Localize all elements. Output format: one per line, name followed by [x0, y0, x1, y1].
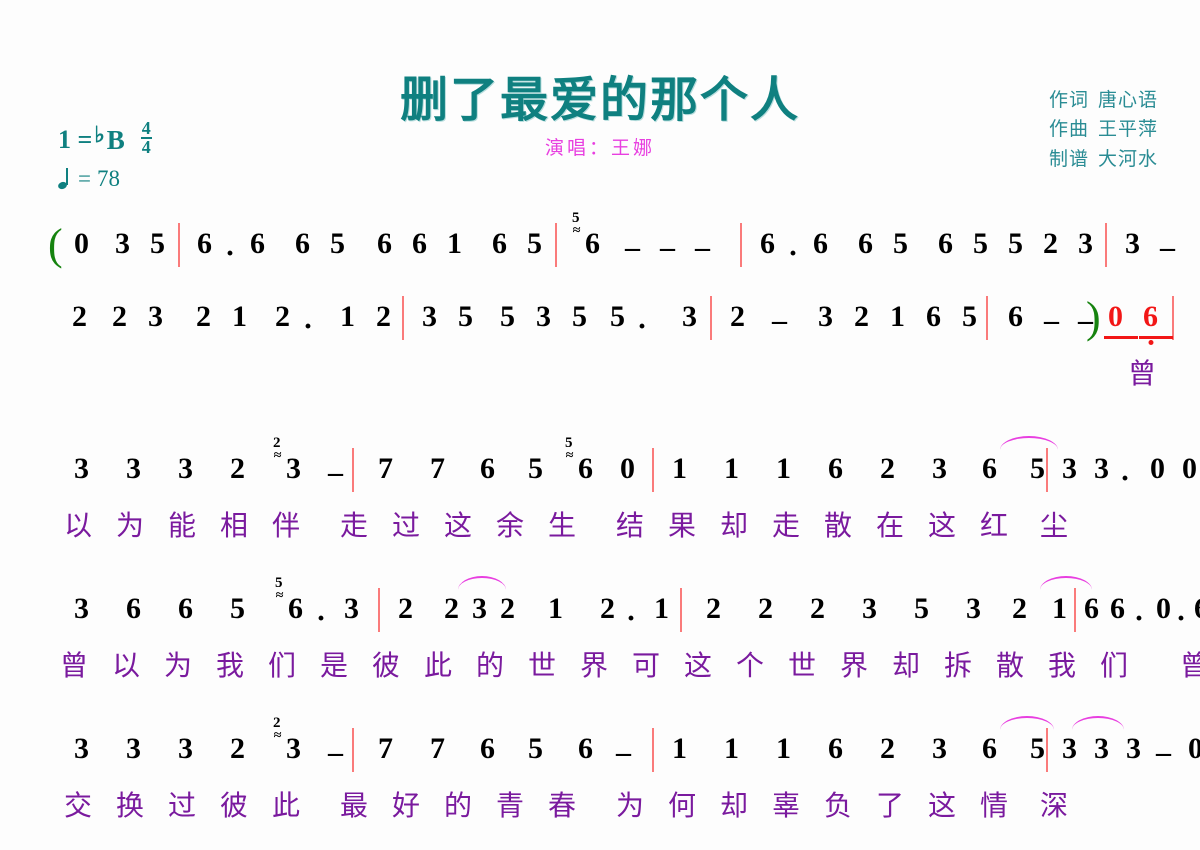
note: 3	[1126, 734, 1141, 764]
note: 6	[178, 594, 193, 624]
note-digit: 3	[422, 302, 437, 332]
lyric-syllable: 换	[116, 784, 145, 824]
note-digit: 0	[74, 229, 89, 259]
note: 65≈	[288, 594, 303, 624]
note-digit: 5	[230, 594, 245, 624]
note: 5	[528, 734, 543, 764]
note-digit: 2	[112, 302, 127, 332]
note: 6	[480, 734, 495, 764]
beam-line	[1008, 628, 1042, 631]
note-digit: 2	[730, 302, 745, 332]
note-digit: 5	[914, 594, 929, 624]
beam-line	[468, 634, 502, 637]
note: 5	[150, 229, 165, 259]
lyric-syllable: 可	[632, 644, 661, 684]
note-digit: 5	[893, 229, 908, 259]
slur-arc	[1072, 716, 1124, 730]
beam-line	[824, 488, 858, 491]
augmentation-dot: ·	[316, 602, 326, 636]
note-line: (0356·6656616565≈–––6·665655233–	[0, 215, 1200, 277]
beam-line	[754, 628, 788, 631]
note: 5	[610, 302, 625, 332]
lyric-syllable: 最	[340, 784, 369, 824]
note: 2	[854, 302, 869, 332]
lyric-syllable: 这	[684, 644, 713, 684]
credit-name: 王平萍	[1098, 119, 1158, 140]
note: 1	[672, 454, 687, 484]
note: 3	[536, 302, 551, 332]
note-digit: 65≈	[585, 229, 600, 259]
note: 5	[528, 454, 543, 484]
note-digit: 2	[810, 594, 825, 624]
note: 2	[1012, 594, 1027, 624]
beam-line	[108, 342, 142, 345]
note-digit: 6	[813, 229, 828, 259]
note-digit: 1	[776, 734, 791, 764]
credit-line: 制谱大河水	[1049, 145, 1158, 174]
beam-line	[476, 768, 510, 771]
grace-note-slash: ≈	[276, 588, 284, 601]
octave-dot-low	[485, 492, 490, 497]
note: 1	[672, 734, 687, 764]
note-digit: 0	[1182, 454, 1197, 484]
lyric-syllable: 界	[840, 644, 869, 684]
note: 2	[600, 594, 615, 624]
note: 6	[1008, 302, 1023, 332]
note-digit: 2	[880, 734, 895, 764]
performer-subtitle: 演唱：王娜	[0, 133, 1200, 160]
open-paren: (	[48, 219, 63, 270]
beam-line	[858, 628, 892, 631]
lyric-syllable: 拆	[944, 644, 973, 684]
lyric-syllable: 个	[736, 644, 765, 684]
beam-line	[922, 336, 956, 339]
key-letter: B	[107, 125, 125, 156]
credit-name: 唐心语	[1098, 90, 1158, 111]
note-digit: 1	[776, 454, 791, 484]
lyric-syllable: 彼	[220, 784, 249, 824]
note-digit: 3	[966, 594, 981, 624]
octave-dot-high	[201, 291, 206, 296]
note-digit: 2	[758, 594, 773, 624]
note-digit: 3	[74, 734, 89, 764]
beam-line	[408, 263, 442, 266]
note-digit: 3	[1094, 734, 1109, 764]
note: 3	[682, 302, 697, 332]
note-digit: 3	[148, 302, 163, 332]
page-title: 删了最爱的那个人	[0, 60, 1200, 130]
augmentation-dot: ·	[1176, 602, 1186, 636]
note-digit: 3	[126, 734, 141, 764]
lyric-syllable: 生	[548, 504, 577, 544]
barline	[352, 448, 354, 492]
beam-line	[922, 342, 956, 345]
beam-line	[962, 628, 996, 631]
beam-line	[886, 342, 920, 345]
note: 7	[378, 734, 393, 764]
note: 0	[1156, 594, 1171, 624]
lyric-syllable: 们	[268, 644, 297, 684]
octave-dot-high	[77, 291, 82, 296]
note-digit: 6	[828, 454, 843, 484]
beam-line	[122, 768, 156, 771]
beam-line	[496, 342, 530, 345]
beam-line	[720, 488, 754, 491]
note-digit: 5	[528, 454, 543, 484]
beam-line	[523, 263, 557, 266]
beam-line	[928, 488, 962, 491]
beam-line	[806, 628, 840, 631]
note-digit: 6	[1110, 594, 1125, 624]
beam-line	[174, 488, 208, 491]
duration-dash: –	[625, 231, 640, 265]
beam-line	[70, 768, 104, 771]
beam-line	[928, 768, 962, 771]
note: 3	[115, 229, 130, 259]
note: 1	[1052, 594, 1067, 624]
lyric-syllable: 为	[164, 644, 193, 684]
note-digit: 2	[1012, 594, 1027, 624]
note: 2	[398, 594, 413, 624]
time-signature: 4 4	[141, 120, 152, 156]
close-paren: )	[1086, 292, 1101, 343]
beam-line	[1190, 628, 1200, 631]
beam-line	[426, 768, 460, 771]
augmentation-dot: ·	[225, 237, 235, 271]
augmentation-dot: ·	[1134, 602, 1144, 636]
slur-arc	[1040, 576, 1092, 590]
duration-dash: –	[1044, 304, 1059, 338]
lyric-syllable: 的	[476, 644, 505, 684]
beam-line	[1026, 488, 1060, 491]
beam-line	[291, 263, 325, 266]
time-signature-denominator: 4	[142, 139, 151, 156]
beam-line	[702, 628, 736, 631]
lyric-line: 曾	[0, 350, 1200, 398]
grace-note-slash: ≈	[566, 448, 574, 461]
lyric-syllable: 春	[548, 784, 577, 824]
lyric-syllable: 交	[64, 784, 93, 824]
beam-line	[1139, 336, 1173, 339]
note-digit: 3	[536, 302, 551, 332]
flat-symbol: ♭	[94, 122, 104, 148]
note-digit: 7	[378, 734, 393, 764]
note-digit: 6	[492, 229, 507, 259]
note-digit: 3	[932, 454, 947, 484]
note-digit: 1	[724, 734, 739, 764]
barline	[378, 588, 380, 632]
staff-row: 223212·12355355·32–321656––)06曾	[0, 288, 1200, 398]
note: 3	[74, 454, 89, 484]
note-digit: 2	[230, 454, 245, 484]
beam-line	[488, 263, 522, 266]
octave-dot-low	[383, 492, 388, 497]
note-digit: 3	[1062, 734, 1077, 764]
note: 5	[893, 229, 908, 259]
staff-row: 333232≈–77656–11162365333–0交换过彼此最好的青春为何却…	[0, 720, 1200, 830]
beam-line	[886, 336, 920, 339]
note-digit: 0	[1156, 594, 1171, 624]
beam-line	[144, 342, 178, 345]
note: 0	[74, 229, 89, 259]
note: 6	[926, 302, 941, 332]
tempo-value: 78	[97, 166, 120, 192]
octave-dot-low	[833, 772, 838, 777]
note-digit: 7	[378, 454, 393, 484]
lyric-syllable: 我	[216, 644, 245, 684]
lyric-syllable: 好	[392, 784, 421, 824]
augmentation-dot: ·	[626, 602, 636, 636]
beam-line	[1048, 628, 1082, 631]
barline	[352, 728, 354, 772]
note: 1	[654, 594, 669, 624]
note-digit: 6	[1008, 302, 1023, 332]
note: 5	[1030, 454, 1045, 484]
note-digit: 3	[1094, 454, 1109, 484]
beam-line	[1074, 269, 1108, 272]
note: 0	[1150, 454, 1165, 484]
beam-line	[326, 263, 360, 266]
beam-line	[524, 488, 558, 491]
octave-dot-low	[833, 492, 838, 497]
duration-dash: –	[1156, 736, 1171, 770]
note-digit: 7	[430, 454, 445, 484]
note-digit: 2	[376, 302, 391, 332]
lyric-syllable: 世	[528, 644, 557, 684]
note-digit: 32≈	[286, 734, 301, 764]
note: 6	[982, 454, 997, 484]
note-digit: 65≈	[288, 594, 303, 624]
beam-line	[418, 336, 452, 339]
note-digit: 6	[178, 594, 193, 624]
note: 1	[724, 454, 739, 484]
note-digit: 1	[724, 454, 739, 484]
lyric-syllable: 何	[668, 784, 697, 824]
duration-dash: –	[328, 736, 343, 770]
lyric-syllable: 过	[168, 784, 197, 824]
slur-arc	[1000, 716, 1054, 730]
octave-dot-high	[895, 291, 900, 296]
note: 5	[527, 229, 542, 259]
beam-line	[122, 628, 156, 631]
octave-dot-high	[505, 291, 510, 296]
beam-line	[394, 628, 428, 631]
beam-line	[1074, 263, 1108, 266]
lyric-syllable: 彼	[372, 644, 401, 684]
lyric-syllable: 青	[496, 784, 525, 824]
note: 6	[492, 229, 507, 259]
note: 3	[818, 302, 833, 332]
note: 3	[148, 302, 163, 332]
octave-dot-high	[463, 291, 468, 296]
note-digit: 5	[458, 302, 473, 332]
note-digit: 5	[150, 229, 165, 259]
note-digit: 2	[600, 594, 615, 624]
augmentation-dot: ·	[788, 237, 798, 271]
note-digit: 32≈	[286, 454, 301, 484]
note: 32≈	[286, 454, 301, 484]
beam-line	[854, 263, 888, 266]
note-digit: 1	[672, 734, 687, 764]
octave-dot-high	[615, 291, 620, 296]
note-line: 333232≈–776565≈01116236533·00	[0, 440, 1200, 502]
note: 2	[230, 454, 245, 484]
note: 3	[126, 454, 141, 484]
note-digit: 2	[196, 302, 211, 332]
beam-line	[978, 768, 1012, 771]
note-digit: 2	[500, 594, 515, 624]
note: 2	[730, 302, 745, 332]
credit-line: 作曲王平萍	[1049, 115, 1158, 144]
note: 5	[500, 302, 515, 332]
lyric-line: 交换过彼此最好的青春为何却辜负了这情深	[0, 782, 1200, 830]
lyric-syllable: 深	[1040, 784, 1069, 824]
note: 3	[1094, 734, 1109, 764]
note-digit: 3	[178, 454, 193, 484]
beam-line	[978, 488, 1012, 491]
note-digit: 6	[480, 454, 495, 484]
octave-dot-low	[485, 772, 490, 777]
grace-note: 5≈	[572, 211, 580, 226]
lyric-syllable: 过	[392, 504, 421, 544]
beam-line	[1039, 263, 1073, 266]
note-digit: 2	[444, 594, 459, 624]
note: 5	[458, 302, 473, 332]
lyric-syllable: 为	[116, 504, 145, 544]
note-digit: 3	[74, 594, 89, 624]
note-digit: 6	[926, 302, 941, 332]
grace-note-slash: ≈	[274, 448, 282, 461]
beam-line	[532, 336, 566, 339]
note-digit: 6	[412, 229, 427, 259]
beam-line	[226, 488, 260, 491]
octave-dot-high	[345, 291, 350, 296]
duration-dash: –	[616, 736, 631, 770]
beam-line	[496, 336, 530, 339]
note: 1	[776, 454, 791, 484]
note: 5	[1030, 734, 1045, 764]
lyric-syllable: 能	[168, 504, 197, 544]
lyric-syllable: 这	[928, 784, 957, 824]
octave-dot-low	[533, 492, 538, 497]
note-digit: 3	[818, 302, 833, 332]
key-label: 1 =	[58, 125, 92, 155]
note: 1	[890, 302, 905, 332]
octave-dot-low	[1115, 632, 1120, 637]
note: 3	[1062, 454, 1077, 484]
beam-line	[111, 263, 145, 266]
note: 3	[126, 734, 141, 764]
octave-dot-high	[452, 218, 457, 223]
lyric-syllable: 这	[928, 504, 957, 544]
note-digit: 6	[938, 229, 953, 259]
note: 3	[862, 594, 877, 624]
beam-line	[1004, 263, 1038, 266]
note-digit: 2	[398, 594, 413, 624]
note-digit: 2	[230, 734, 245, 764]
grace-note: 5≈	[275, 576, 283, 591]
note: 2	[275, 302, 290, 332]
beam-line	[934, 263, 968, 266]
note: 1	[776, 734, 791, 764]
lyric-syllable: 红	[980, 504, 1009, 544]
note-digit: 5	[527, 229, 542, 259]
beam-line	[1104, 336, 1138, 339]
duration-dash: –	[328, 456, 343, 490]
octave-dot-high	[859, 291, 864, 296]
note: 6	[828, 734, 843, 764]
note-digit: 5	[572, 302, 587, 332]
staff-row: 366565≈·3223212·12223532166·0·6曾以为我们是彼此的…	[0, 580, 1200, 690]
beam-line	[756, 263, 790, 266]
note-digit: 6	[377, 229, 392, 259]
note: 0	[620, 454, 635, 484]
note: 6	[1194, 594, 1200, 624]
beam-line	[910, 628, 944, 631]
note: 0	[1108, 302, 1123, 332]
beam-line	[372, 336, 406, 339]
note: 3	[1078, 229, 1093, 259]
note: 1	[340, 302, 355, 332]
note-digit: 2	[880, 454, 895, 484]
note-digit: 2	[275, 302, 290, 332]
lyric-line: 曾以为我们是彼此的世界可这个世界却拆散我们曾	[0, 642, 1200, 690]
beam-line	[408, 269, 442, 272]
grace-note-slash: ≈	[274, 728, 282, 741]
tempo-equals: =	[78, 166, 91, 192]
note: 2	[500, 594, 515, 624]
note: 2	[112, 302, 127, 332]
barline	[740, 223, 742, 267]
lyric-line: 以为能相伴走过这余生结果却走散在这红尘	[0, 502, 1200, 550]
augmentation-dot: ·	[1120, 462, 1130, 496]
lyric-syllable: 界	[580, 644, 609, 684]
note: 2	[376, 302, 391, 332]
octave-dot-high	[153, 291, 158, 296]
note: 0	[1188, 734, 1200, 764]
octave-dot-high	[735, 291, 740, 296]
barline	[402, 296, 404, 340]
beam-line	[192, 336, 226, 339]
quarter-note-icon	[58, 169, 72, 189]
octave-dot-low	[435, 492, 440, 497]
beam-line	[958, 336, 992, 339]
note-digit: 5	[610, 302, 625, 332]
note: 5	[330, 229, 345, 259]
beam-line	[146, 263, 180, 266]
beam-line	[443, 263, 477, 266]
note-digit: 5	[1008, 229, 1023, 259]
lyric-syllable: 以	[112, 644, 141, 684]
barline	[1105, 223, 1107, 267]
lyric-syllable: 此	[424, 644, 453, 684]
note: 6	[1084, 594, 1099, 624]
note: 6	[197, 229, 212, 259]
beam-line	[824, 768, 858, 771]
lyric-syllable: 辜	[772, 784, 801, 824]
beam-line	[146, 269, 180, 272]
note: 3	[178, 734, 193, 764]
note-digit: 1	[548, 594, 563, 624]
note: 6	[982, 734, 997, 764]
lyric-syllable: 曾	[1180, 644, 1200, 684]
note: 6	[760, 229, 775, 259]
note: 6	[295, 229, 310, 259]
note-digit: 3	[344, 594, 359, 624]
lyric-syllable: 却	[720, 784, 749, 824]
barline	[178, 223, 180, 267]
note: 3	[74, 734, 89, 764]
